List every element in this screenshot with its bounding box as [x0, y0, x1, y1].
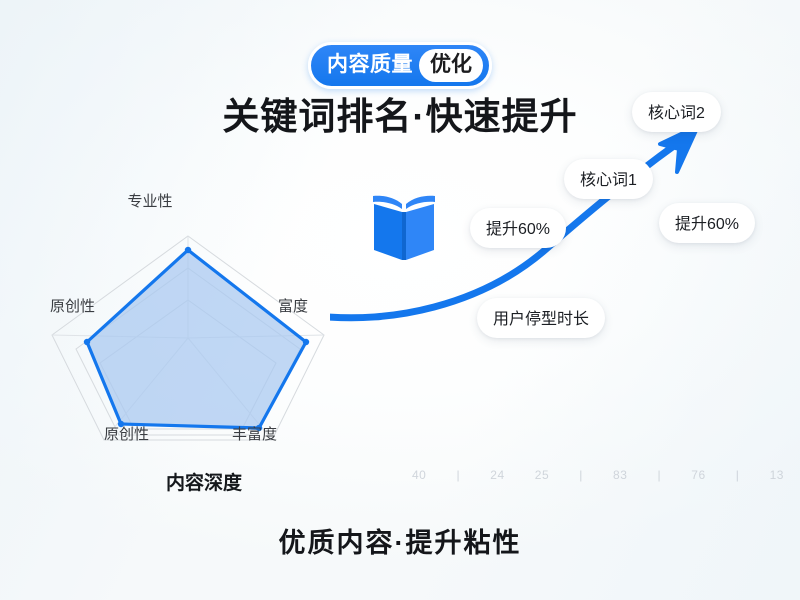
axis-tick-strip: 40 | 24 25 | 83 | 76 | 13 — [412, 464, 784, 486]
badge-main-label: 内容质量 — [327, 54, 413, 77]
tick-mark: | — [579, 468, 583, 482]
radar-series-area — [87, 250, 306, 428]
content-depth-label: 内容深度 — [166, 468, 242, 495]
tick-mark: | — [457, 468, 461, 482]
radar-axis-label-top: 专业性 — [127, 190, 172, 211]
page-caption: 优质内容·提升粘性 — [0, 521, 800, 560]
radar-axis-label-right: 富度 — [278, 295, 308, 316]
radar-axis-label-bottom-left: 原创性 — [104, 423, 149, 444]
tick-mark: | — [736, 468, 740, 482]
radar-chart — [38, 228, 338, 448]
quality-badge[interactable]: 内容质量 优化 — [308, 42, 492, 89]
open-book-icon — [368, 188, 440, 266]
radar-axis-label-left: 原创性 — [50, 295, 95, 316]
tick-label: 76 — [691, 468, 705, 482]
pill-uplift-left[interactable]: 提升60% — [470, 208, 566, 248]
badge-chip-label: 优化 — [419, 49, 483, 82]
pill-keyword-2[interactable]: 核心词2 — [632, 92, 721, 132]
tick-label: 24 — [490, 468, 504, 482]
tick-label: 25 — [535, 468, 549, 482]
radar-axis-label-bottom-right: 丰富度 — [232, 423, 277, 444]
tick-label: 40 — [412, 468, 426, 482]
pill-keyword-1[interactable]: 核心词1 — [564, 159, 653, 199]
pill-dwell-time[interactable]: 用户停型时长 — [477, 298, 605, 338]
radar-chart-svg — [38, 228, 338, 448]
tick-label: 83 — [613, 468, 627, 482]
tick-label: 13 — [770, 468, 784, 482]
pill-uplift-right[interactable]: 提升60% — [659, 203, 755, 243]
poster-canvas: 内容质量 优化 关键词排名·快速提升 — [0, 0, 800, 600]
tick-mark: | — [658, 468, 662, 482]
